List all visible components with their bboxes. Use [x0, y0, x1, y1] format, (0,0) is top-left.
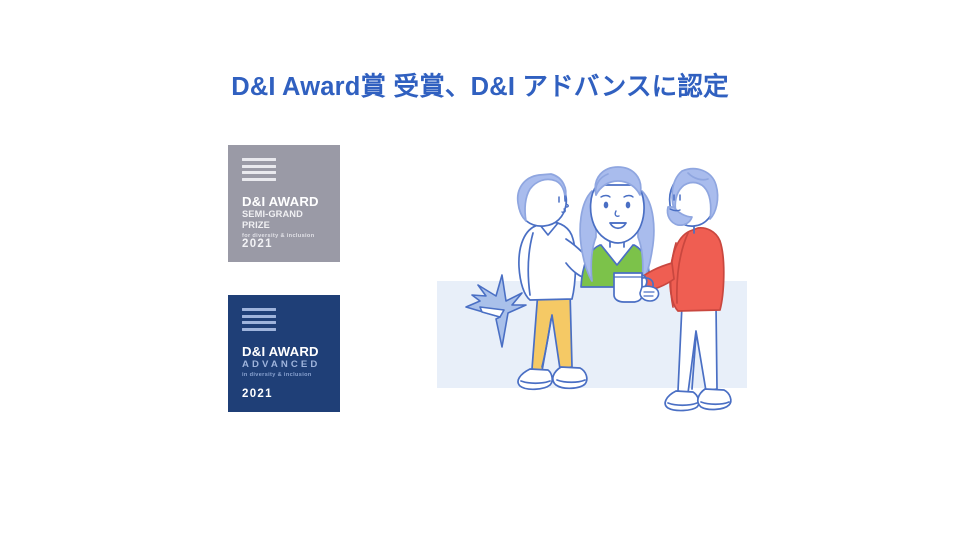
badge-year: 2021 [242, 388, 273, 400]
illustration-three-people-conversation [420, 155, 780, 425]
person-center-woman [580, 167, 654, 287]
page-title: D&I Award賞 受賞、D&I アドバンスに認定 [0, 66, 960, 103]
badge-text-block: D&I AWARD SEMI-GRAND PRIZE for diversity… [242, 195, 328, 239]
four-bar-logo-mark-icon [242, 308, 276, 331]
badge-title: D&I AWARD [242, 345, 328, 359]
award-badge-advanced: D&I AWARD ADVANCED in diversity & inclus… [228, 295, 340, 412]
center-hand-on-mug [640, 286, 659, 301]
four-bar-logo-mark-icon [242, 158, 276, 181]
slide-canvas: D&I Award賞 受賞、D&I アドバンスに認定 D&I AWARD SEM… [0, 0, 960, 540]
badge-text-block: D&I AWARD ADVANCED in diversity & inclus… [242, 345, 328, 379]
badge-subtitle: ADVANCED [242, 359, 328, 370]
badge-title: D&I AWARD [242, 195, 328, 209]
badge-year: 2021 [242, 238, 273, 250]
badge-tagline: in diversity & inclusion [242, 372, 328, 378]
badge-subtitle: SEMI-GRAND PRIZE [242, 209, 328, 230]
award-badge-semi-grand-prize: D&I AWARD SEMI-GRAND PRIZE for diversity… [228, 145, 340, 262]
